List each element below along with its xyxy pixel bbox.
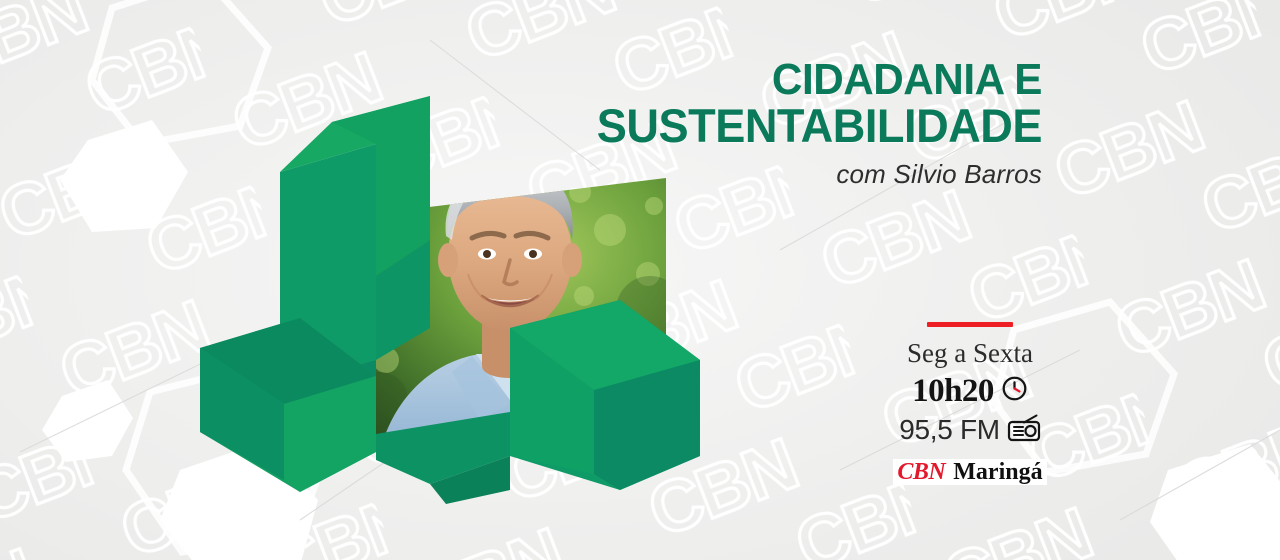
title-block: CIDADANIA E SUSTENTABILIDADE com Silvio … bbox=[402, 58, 1042, 190]
broadcast-time: 10h20 bbox=[912, 373, 994, 410]
radio-icon bbox=[1007, 414, 1041, 447]
cbn-wordmark: CBN bbox=[897, 460, 945, 484]
cbn-maringa-logo: CBN Maringá bbox=[893, 459, 1046, 485]
cbn-city-name: Maringá bbox=[953, 460, 1042, 484]
program-host-subtitle: com Silvio Barros bbox=[402, 159, 1042, 190]
program-banner: CBN bbox=[0, 0, 1280, 560]
broadcast-days: Seg a Sexta bbox=[880, 339, 1060, 369]
accent-divider bbox=[927, 322, 1013, 327]
clock-icon bbox=[1001, 375, 1028, 407]
program-title-line1: CIDADANIA E bbox=[428, 58, 1042, 101]
broadcast-time-row: 10h20 bbox=[880, 373, 1060, 410]
broadcast-frequency-row: 95,5 FM bbox=[880, 414, 1060, 447]
schedule-block: Seg a Sexta 10h20 95,5 FM bbox=[880, 322, 1060, 485]
broadcast-frequency: 95,5 FM bbox=[899, 414, 1000, 446]
program-title-line2: SUSTENTABILIDADE bbox=[428, 103, 1042, 149]
